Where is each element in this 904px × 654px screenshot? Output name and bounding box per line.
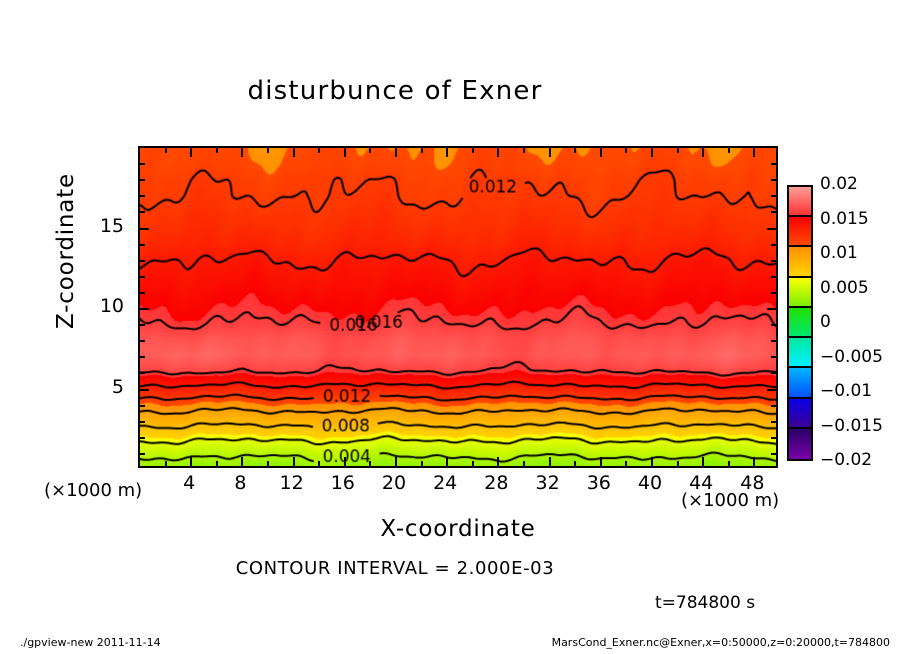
y-axis-title: Z-coordinate — [53, 141, 79, 361]
y-axis-tick — [140, 372, 145, 374]
y-axis-tick — [771, 211, 776, 213]
x-axis-tick — [574, 148, 576, 153]
y-axis-tick — [140, 244, 145, 246]
y-axis-tick — [771, 340, 776, 342]
y-axis-tick — [140, 405, 145, 407]
colorbar-tick-label: 0.02 — [820, 174, 858, 194]
colorbar-tick-label: 0 — [820, 312, 831, 332]
y-axis-tick — [140, 340, 145, 342]
footer-source-label: MarsCond_Exner.nc@Exner,x=0:50000,z=0:20… — [552, 636, 890, 649]
footer-command-label: ./gpview-new 2011-11-14 — [20, 636, 161, 649]
y-axis-tick-label: 10 — [88, 295, 124, 317]
x-axis-units-label: (×1000 m) — [681, 490, 779, 511]
x-axis-tick — [241, 457, 243, 466]
x-axis-tick — [600, 457, 602, 466]
y-axis-tick — [771, 260, 776, 262]
x-axis-tick — [497, 148, 499, 157]
contour-plot-area — [138, 146, 778, 468]
x-axis-tick — [344, 148, 346, 157]
colorbar-band — [789, 187, 811, 217]
x-axis-title: X-coordinate — [138, 516, 778, 542]
x-axis-tick — [651, 457, 653, 466]
x-axis-tick — [395, 148, 397, 157]
x-axis-tick — [446, 457, 448, 466]
x-axis-tick — [625, 148, 627, 153]
y-axis-tick — [767, 389, 776, 391]
y-axis-tick — [140, 292, 145, 294]
x-axis-tick — [523, 148, 525, 153]
x-axis-tick — [497, 457, 499, 466]
x-axis-tick — [216, 461, 218, 466]
x-axis-tick — [369, 461, 371, 466]
y-axis-tick — [140, 276, 145, 278]
y-axis-tick — [771, 276, 776, 278]
colorbar-tick-label: −0.015 — [820, 416, 883, 436]
colorbar-band — [789, 399, 811, 429]
y-axis-tick-label: 5 — [88, 376, 124, 398]
y-axis-tick — [771, 244, 776, 246]
x-axis-tick — [677, 148, 679, 153]
x-axis-tick — [293, 148, 295, 157]
colorbar-tick-label: −0.02 — [820, 450, 872, 470]
x-axis-tick — [549, 148, 551, 157]
x-axis-tick — [472, 461, 474, 466]
x-axis-tick — [728, 148, 730, 153]
x-axis-tick — [267, 461, 269, 466]
colorbar — [787, 185, 813, 461]
y-axis-tick — [771, 421, 776, 423]
colorbar-band — [789, 247, 811, 277]
colorbar-tick-label: 0.015 — [820, 209, 869, 229]
y-axis-tick — [771, 405, 776, 407]
x-axis-tick — [395, 457, 397, 466]
colorbar-tick-label: 0.01 — [820, 243, 858, 263]
y-axis-tick-label: 15 — [88, 215, 124, 237]
x-axis-tick — [574, 461, 576, 466]
y-axis-tick — [140, 421, 145, 423]
x-axis-tick — [344, 457, 346, 466]
x-axis-tick — [472, 148, 474, 153]
colorbar-tick-label: 0.005 — [820, 278, 869, 298]
x-axis-tick — [600, 148, 602, 157]
x-axis-tick — [190, 457, 192, 466]
y-axis-tick — [140, 389, 149, 391]
x-axis-tick — [421, 148, 423, 153]
y-axis-tick — [140, 260, 145, 262]
y-axis-tick — [771, 163, 776, 165]
x-axis-tick — [753, 148, 755, 157]
y-axis-tick — [140, 163, 145, 165]
y-axis-tick — [140, 453, 145, 455]
colorbar-tick-label: −0.01 — [820, 381, 872, 401]
contour-plot-canvas — [140, 148, 776, 466]
x-axis-tick — [421, 461, 423, 466]
x-axis-tick — [728, 461, 730, 466]
y-axis-tick — [771, 324, 776, 326]
y-axis-tick — [140, 228, 149, 230]
x-axis-tick — [702, 457, 704, 466]
x-axis-tick — [625, 461, 627, 466]
y-axis-units-label: (×1000 m) — [44, 480, 142, 501]
x-axis-tick — [216, 148, 218, 153]
x-axis-tick — [677, 461, 679, 466]
x-axis-tick — [446, 148, 448, 157]
x-axis-tick — [318, 148, 320, 153]
x-axis-tick — [523, 461, 525, 466]
y-axis-tick — [767, 228, 776, 230]
x-axis-tick — [369, 148, 371, 153]
y-axis-tick — [771, 179, 776, 181]
x-axis-tick — [190, 148, 192, 157]
colorbar-band — [789, 217, 811, 247]
x-axis-tick — [241, 148, 243, 157]
y-axis-tick — [140, 437, 145, 439]
y-axis-tick — [771, 437, 776, 439]
y-axis-tick — [140, 195, 145, 197]
colorbar-band — [789, 278, 811, 308]
y-axis-tick — [771, 292, 776, 294]
colorbar-band — [789, 338, 811, 368]
x-axis-tick — [549, 457, 551, 466]
x-axis-tick — [267, 148, 269, 153]
x-axis-tick — [318, 461, 320, 466]
x-axis-tick — [165, 461, 167, 466]
y-axis-tick — [771, 195, 776, 197]
y-axis-tick — [140, 211, 145, 213]
colorbar-band — [789, 308, 811, 338]
x-axis-tick — [702, 148, 704, 157]
x-axis-tick — [293, 457, 295, 466]
y-axis-tick — [140, 179, 145, 181]
x-axis-tick — [753, 457, 755, 466]
time-annotation: t=784800 s — [655, 593, 755, 613]
y-axis-tick — [771, 356, 776, 358]
y-axis-tick — [767, 308, 776, 310]
colorbar-tick-label: −0.005 — [820, 347, 883, 367]
page-title: disturbunce of Exner — [0, 76, 790, 106]
x-axis-tick — [165, 148, 167, 153]
colorbar-band — [789, 429, 811, 459]
y-axis-tick — [771, 453, 776, 455]
y-axis-tick — [140, 308, 149, 310]
x-axis-tick — [651, 148, 653, 157]
y-axis-tick — [140, 324, 145, 326]
contour-interval-annotation: CONTOUR INTERVAL = 2.000E-03 — [0, 558, 790, 579]
colorbar-band — [789, 368, 811, 398]
y-axis-tick — [771, 372, 776, 374]
y-axis-tick — [140, 356, 145, 358]
